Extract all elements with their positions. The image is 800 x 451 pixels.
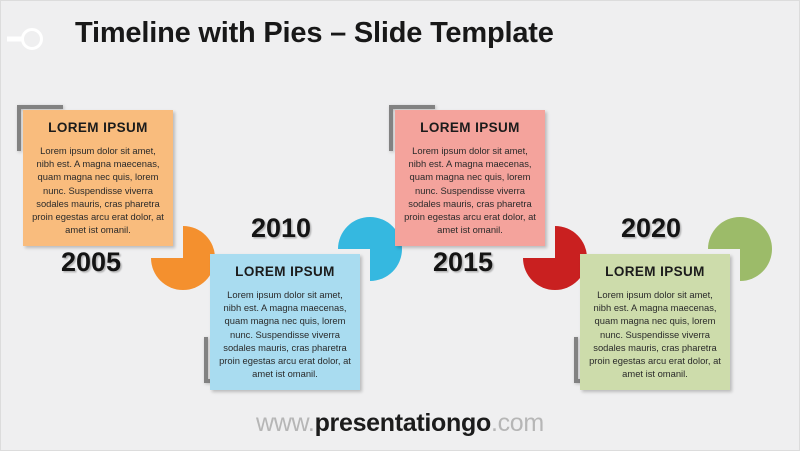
footer-brand: presentationgo bbox=[315, 409, 491, 437]
card-body-text: Lorem ipsum dolor sit amet, nibh est. A … bbox=[589, 288, 721, 380]
year-label-2005: 2005 bbox=[61, 247, 121, 278]
card-heading: LOREM IPSUM bbox=[219, 264, 351, 279]
content-card-2015[interactable]: LOREM IPSUM Lorem ipsum dolor sit amet, … bbox=[395, 110, 545, 246]
card-heading: LOREM IPSUM bbox=[404, 120, 536, 135]
card-heading: LOREM IPSUM bbox=[589, 264, 721, 279]
content-card-2010[interactable]: LOREM IPSUM Lorem ipsum dolor sit amet, … bbox=[210, 254, 360, 390]
footer-prefix: www. bbox=[256, 409, 315, 437]
page-title: Timeline with Pies – Slide Template bbox=[75, 17, 554, 50]
card-body-text: Lorem ipsum dolor sit amet, nibh est. A … bbox=[32, 144, 164, 236]
year-label-2010: 2010 bbox=[251, 213, 311, 244]
circle-pin-icon bbox=[7, 26, 47, 52]
card-body-text: Lorem ipsum dolor sit amet, nibh est. A … bbox=[404, 144, 536, 236]
card-heading: LOREM IPSUM bbox=[32, 120, 164, 135]
footer-suffix: .com bbox=[491, 409, 544, 437]
card-body-text: Lorem ipsum dolor sit amet, nibh est. A … bbox=[219, 288, 351, 380]
year-label-2015: 2015 bbox=[433, 247, 493, 278]
content-card-2005[interactable]: LOREM IPSUM Lorem ipsum dolor sit amet, … bbox=[23, 110, 173, 246]
content-card-2020[interactable]: LOREM IPSUM Lorem ipsum dolor sit amet, … bbox=[580, 254, 730, 390]
slide-canvas: Timeline with Pies – Slide Template LORE… bbox=[0, 0, 800, 451]
brand-footer[interactable]: www.presentationgo.com bbox=[1, 409, 799, 438]
year-label-2020: 2020 bbox=[621, 213, 681, 244]
